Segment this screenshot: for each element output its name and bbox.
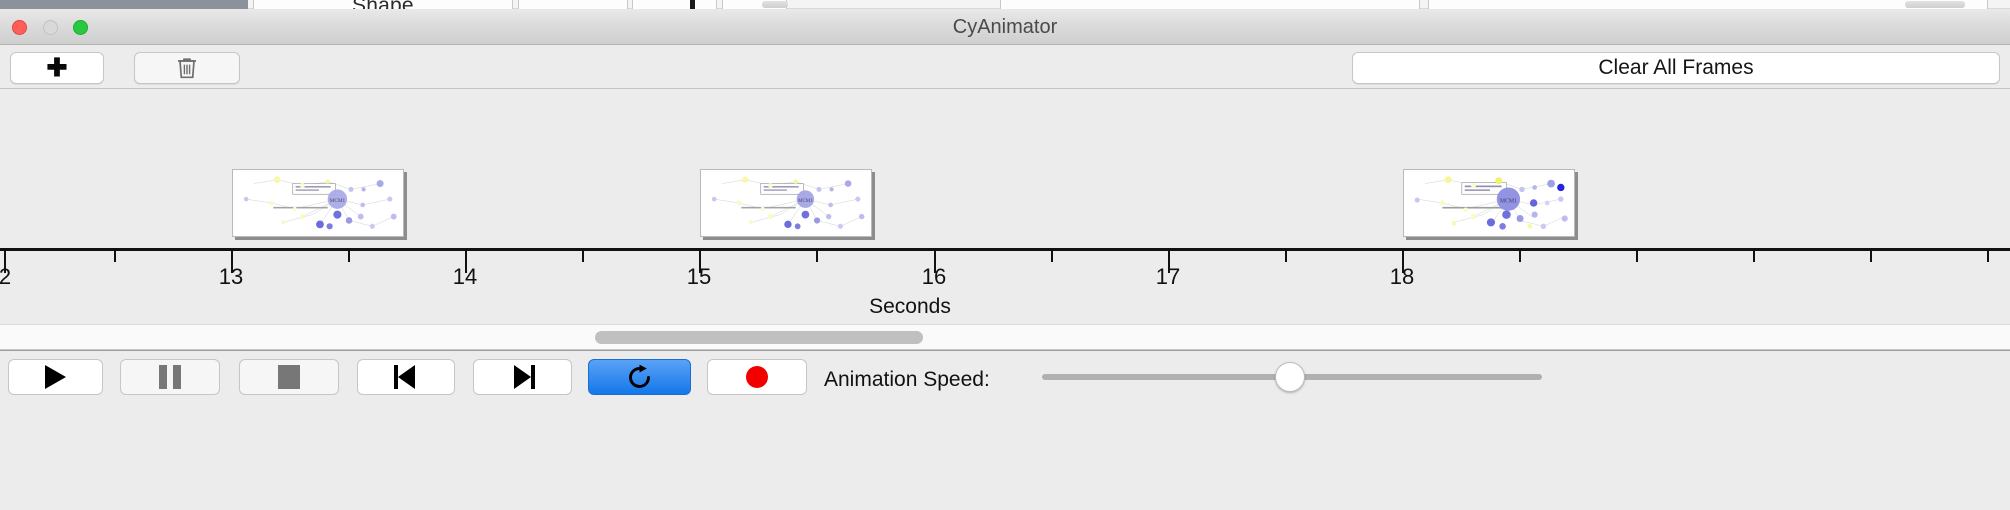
axis-tick-minor — [348, 251, 350, 262]
background-tab — [0, 0, 38, 9]
frame-toolbar: ✚ Clear All Frames — [0, 45, 2010, 89]
axis-tick-minor — [1636, 251, 1638, 262]
add-frame-button[interactable]: ✚ — [10, 52, 104, 84]
axis-tick-label: 18 — [1390, 264, 1414, 290]
pause-button[interactable] — [120, 359, 220, 395]
pause-icon — [159, 365, 181, 389]
trash-icon — [176, 56, 198, 80]
axis-tick-label: 17 — [1156, 264, 1180, 290]
plus-icon: ✚ — [47, 56, 68, 81]
clear-all-frames-label: Clear All Frames — [1598, 56, 1753, 80]
axis-tick-minor — [114, 251, 116, 262]
delete-frame-button[interactable] — [134, 52, 240, 84]
axis-tick-minor — [1987, 251, 1989, 262]
play-icon — [45, 365, 66, 389]
record-button[interactable] — [707, 359, 807, 395]
axis-tick-label: 14 — [453, 264, 477, 290]
network-thumbnail: MCM1 — [233, 170, 403, 236]
background-scrollbar — [1905, 1, 1965, 8]
background-scrollbar — [762, 1, 788, 8]
axis-tick-label: 2 — [0, 264, 11, 290]
axis-tick-minor — [1753, 251, 1755, 262]
svg-text:MCM1: MCM1 — [330, 198, 346, 204]
svg-text:MCM1: MCM1 — [798, 198, 813, 204]
loop-button[interactable] — [588, 359, 691, 395]
stop-icon — [278, 365, 300, 389]
axis-tick-minor — [1285, 251, 1287, 262]
background-window-strip: Shape — [0, 0, 2010, 9]
network-thumbnail: MCM1 — [1404, 170, 1574, 236]
first-frame-button[interactable] — [357, 359, 455, 395]
skip-back-icon — [394, 365, 418, 389]
svg-text:MCM1: MCM1 — [1500, 199, 1517, 205]
timeline-panel[interactable]: MCM1 — [0, 89, 2010, 324]
axis-tick-label: 13 — [219, 264, 243, 290]
play-button[interactable] — [8, 359, 103, 395]
slider-track-left — [1042, 374, 1287, 380]
loop-icon — [626, 364, 653, 391]
clear-all-frames-button[interactable]: Clear All Frames — [1352, 52, 2000, 84]
background-panel — [632, 0, 717, 9]
axis-tick-minor — [1051, 251, 1053, 262]
slider-track-right — [1297, 374, 1542, 380]
timeline-scrollbar[interactable] — [0, 324, 2010, 350]
timeline-axis-line — [0, 248, 2010, 251]
axis-tick-minor — [1519, 251, 1521, 262]
table-row[interactable]: MCM1 — [700, 169, 872, 237]
axis-tick-minor — [816, 251, 818, 262]
slider-knob[interactable] — [1275, 362, 1305, 392]
background-marker — [690, 0, 695, 9]
frame-thumbnails-layer: MCM1 — [0, 89, 2010, 249]
timeline-scrollbar-thumb[interactable] — [595, 331, 923, 344]
window-titlebar: CyAnimator — [0, 9, 2010, 45]
axis-tick-label: 16 — [922, 264, 946, 290]
axis-tick-minor — [1870, 251, 1872, 262]
axis-tick-label: 15 — [687, 264, 711, 290]
record-icon — [746, 366, 768, 388]
background-tab — [38, 0, 248, 9]
animation-speed-slider[interactable] — [1042, 374, 1542, 380]
stop-button[interactable] — [239, 359, 339, 395]
background-panel — [1000, 0, 1420, 9]
playback-controls-bar: Animation Speed: — [0, 350, 2010, 410]
axis-tick-minor — [582, 251, 584, 262]
animation-speed-label: Animation Speed: — [824, 368, 990, 392]
last-frame-button[interactable] — [473, 359, 572, 395]
window-title: CyAnimator — [0, 16, 2010, 39]
table-row[interactable]: MCM1 — [1403, 169, 1575, 237]
background-panel — [1428, 0, 1988, 9]
axis-title: Seconds — [0, 295, 1820, 319]
network-thumbnail: MCM1 — [701, 170, 871, 236]
skip-forward-icon — [511, 365, 535, 389]
background-panel — [518, 0, 628, 9]
table-row[interactable]: MCM1 — [232, 169, 404, 237]
